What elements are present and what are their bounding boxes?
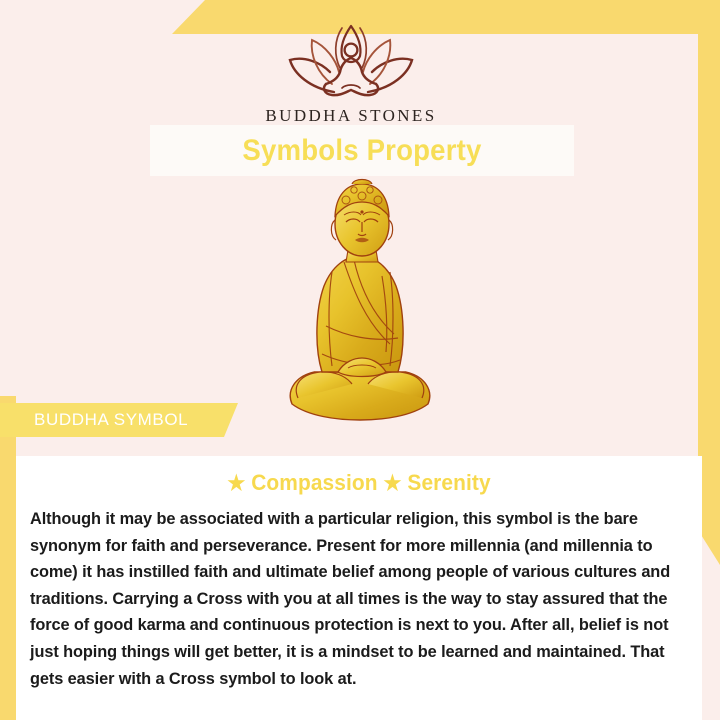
content-card: ★ Compassion ★ Serenity Although it may … <box>16 456 702 720</box>
content-paragraph: Although it may be associated with a par… <box>30 506 678 692</box>
buddha-illustration <box>262 176 458 428</box>
buddha-symbol-ribbon: BUDDHA SYMBOL <box>0 403 238 437</box>
seated-golden-buddha-illustration <box>262 176 458 428</box>
frame-left-accent <box>0 396 16 720</box>
content-headline: ★ Compassion ★ Serenity <box>33 470 685 496</box>
brand-name: BUDDHA STONES <box>0 106 702 126</box>
title-banner: Symbols Property <box>150 125 574 176</box>
star-icon-left: ★ <box>227 472 245 495</box>
headline-serenity: Serenity <box>407 470 490 495</box>
brand-logo-block: BUDDHA STONES <box>0 22 702 126</box>
lotus-meditation-icon <box>276 22 426 100</box>
headline-compassion: Compassion <box>251 470 377 495</box>
ribbon-label: BUDDHA SYMBOL <box>0 410 188 430</box>
page-title: Symbols Property <box>242 134 481 168</box>
star-icon-right: ★ <box>384 472 402 495</box>
poster-canvas: BUDDHA STONES Symbols Property <box>0 0 720 720</box>
